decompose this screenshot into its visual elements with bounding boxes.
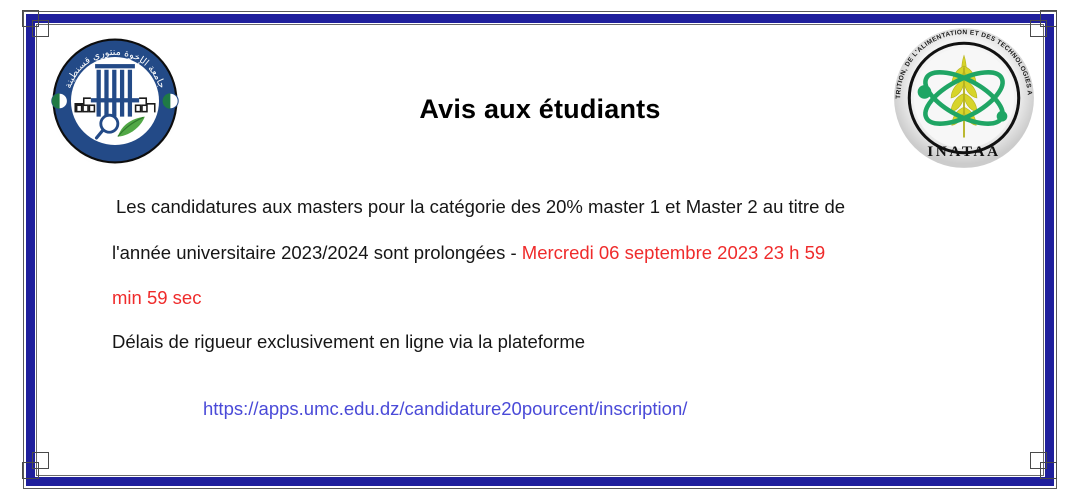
platform-note-text: Délais de rigueur exclusivement en ligne…	[112, 331, 585, 352]
announcement-line-2: l'année universitaire 2023/2024 sont pro…	[112, 244, 1000, 263]
svg-text:INATAA: INATAA	[927, 143, 1001, 160]
border-corner-mark-top-right-outer	[1040, 10, 1057, 27]
border-corner-mark-bottom-left-inner	[32, 452, 49, 469]
announcement-line-1: Les candidatures aux masters pour la cat…	[116, 198, 1000, 217]
border-corner-mark-top-left-outer	[22, 10, 39, 27]
page-title: Avis aux étudiants	[0, 94, 1080, 125]
announcement-body: Les candidatures aux masters pour la cat…	[110, 198, 1000, 351]
announcement-line-1-text: Les candidatures aux masters pour la cat…	[116, 196, 845, 217]
deadline-seconds-text: min 59 sec	[112, 287, 201, 308]
border-corner-mark-bottom-right-inner	[1030, 452, 1047, 469]
announcement-poster: جامعة الإخوة منتوري قسنطينة UNIVERSITE D…	[0, 0, 1080, 500]
announcement-line-3: min 59 sec	[112, 289, 1000, 308]
border-corner-mark-bottom-right-outer	[1040, 462, 1057, 479]
announcement-line-2-text: l'année universitaire 2023/2024 sont pro…	[112, 242, 522, 263]
announcement-line-4: Délais de rigueur exclusivement en ligne…	[112, 333, 1000, 352]
border-corner-mark-bottom-left-outer	[22, 462, 39, 479]
registration-url-link[interactable]: https://apps.umc.edu.dz/candidature20pou…	[203, 398, 687, 420]
deadline-date-text: Mercredi 06 septembre 2023 23 h 59	[522, 242, 825, 263]
